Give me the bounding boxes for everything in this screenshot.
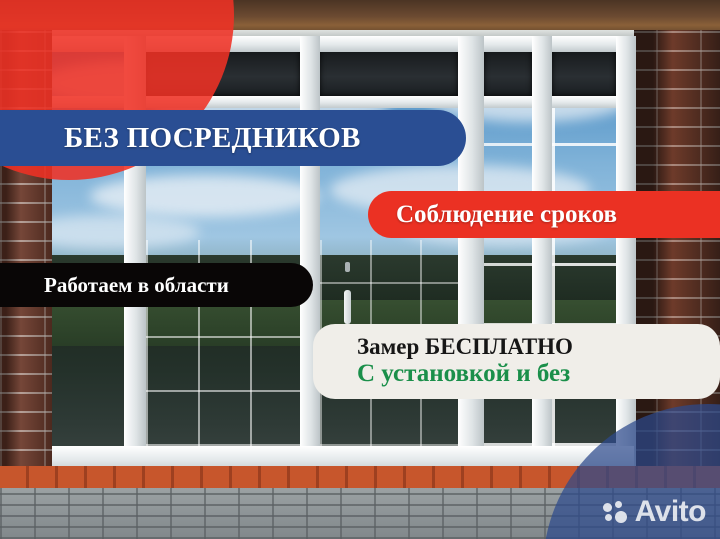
window-mullion (300, 36, 320, 472)
window-mullion (616, 36, 636, 472)
banner-no-intermediaries: БЕЗ ПОСРЕДНИКОВ (0, 110, 466, 166)
banner-free-measurement: Замер БЕСПЛАТНО С установкой и без (313, 324, 720, 399)
avito-watermark: Avito (603, 497, 706, 527)
door-lock-icon (345, 262, 350, 272)
banner-region-coverage-label: Работаем в области (44, 273, 229, 298)
banner-region-coverage: Работаем в области (0, 263, 313, 307)
avito-wordmark: Avito (635, 497, 706, 527)
banner-free-measurement-line2: С установкой и без (357, 360, 570, 388)
banner-free-measurement-line1: Замер БЕСПЛАТНО (357, 335, 573, 360)
window-mullion (532, 36, 552, 472)
banner-deadlines: Соблюдение сроков (368, 191, 720, 238)
window-mullion (458, 36, 484, 472)
door-handle (344, 290, 351, 324)
avito-dots-icon (603, 501, 629, 523)
window-blind (320, 48, 458, 96)
window-blind (484, 48, 532, 96)
window-blind (552, 48, 616, 96)
banner-deadlines-label: Соблюдение сроков (396, 201, 617, 229)
banner-no-intermediaries-label: БЕЗ ПОСРЕДНИКОВ (64, 122, 361, 155)
advertisement-image: БЕЗ ПОСРЕДНИКОВ Соблюдение сроков Работа… (0, 0, 720, 539)
